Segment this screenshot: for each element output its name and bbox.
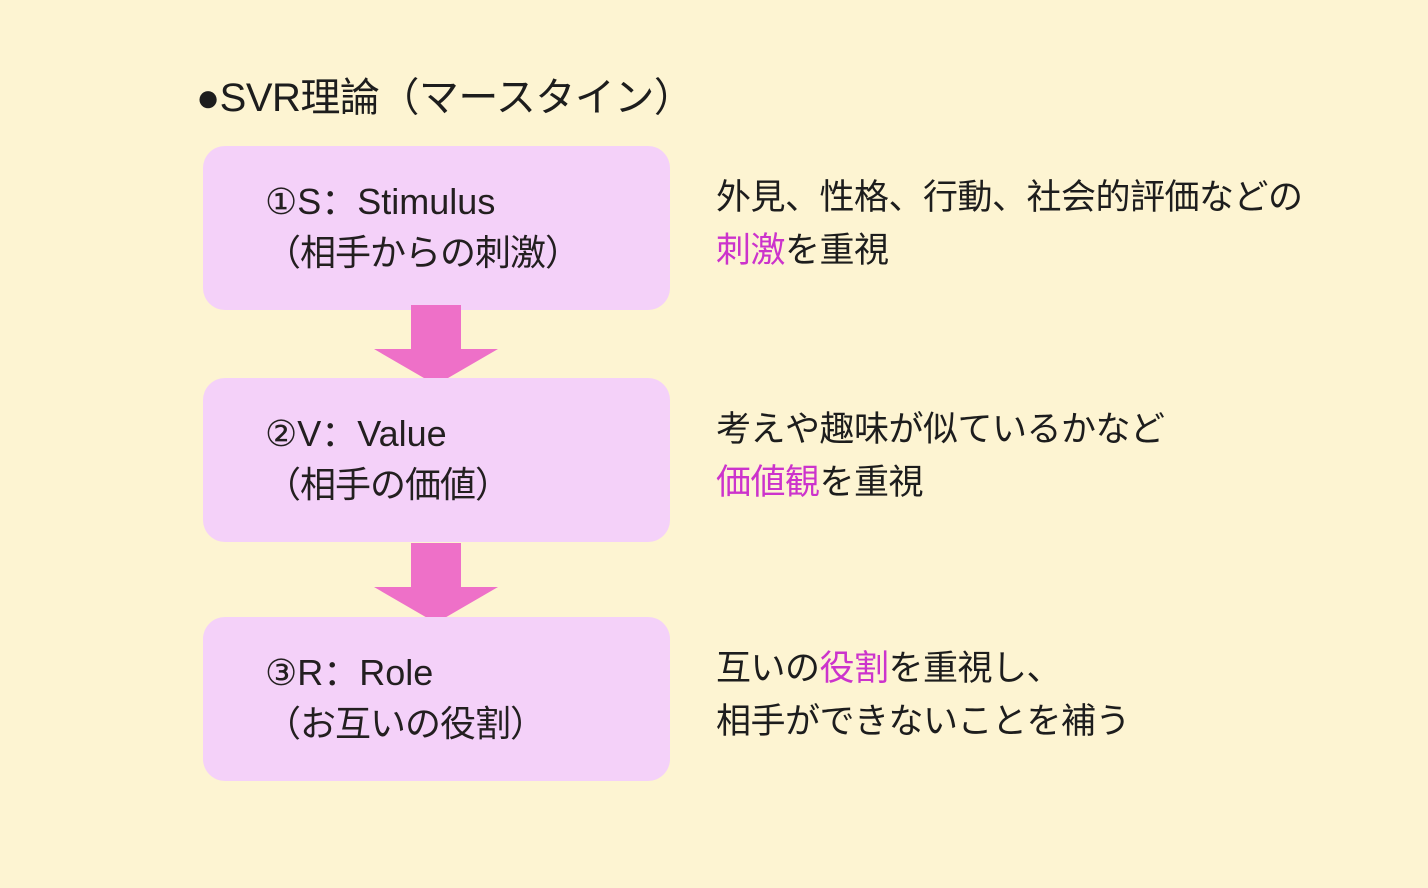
description-line-2: 刺激を重視: [716, 225, 1303, 278]
description-line-1: 互いの役割を重視し、: [716, 643, 1130, 696]
highlight-term: 価値観: [716, 463, 820, 502]
stage-description-value: 考えや趣味が似ているかなど 価値観を重視: [716, 404, 1165, 509]
stage-box-line1: ②V：Value: [265, 413, 447, 454]
arrow-down-icon: [374, 305, 498, 385]
page-title: ●SVR理論（マースタイン）: [196, 78, 693, 118]
description-line-1-pre: 互いの: [716, 649, 820, 688]
stage-box-label: ②V：Value （相手の価値）: [265, 408, 510, 510]
slide-canvas: ●SVR理論（マースタイン） ①S：Stimulus （相手からの刺激） 外見、…: [0, 0, 1428, 888]
stage-description-stimulus: 外見、性格、行動、社会的評価などの 刺激を重視: [716, 172, 1303, 277]
stage-box-line2: （相手からの刺激）: [265, 227, 580, 278]
stage-box-line2: （お互いの役割）: [265, 698, 545, 749]
description-line-2: 価値観を重視: [716, 457, 1165, 510]
stage-box-line1: ①S：Stimulus: [265, 181, 495, 222]
stage-box-label: ③R：Role （お互いの役割）: [265, 647, 545, 749]
stage-box-line2: （相手の価値）: [265, 459, 510, 510]
description-line-1-post: を重視し、: [889, 649, 1062, 688]
description-line-1: 外見、性格、行動、社会的評価などの: [716, 172, 1303, 225]
stage-box-role[interactable]: ③R：Role （お互いの役割）: [203, 617, 670, 781]
highlight-term: 刺激: [716, 231, 785, 270]
stage-description-role: 互いの役割を重視し、 相手ができないことを補う: [716, 643, 1130, 748]
stage-box-label: ①S：Stimulus （相手からの刺激）: [265, 176, 580, 278]
description-line-2-rest: を重視: [820, 463, 924, 502]
stage-box-value[interactable]: ②V：Value （相手の価値）: [203, 378, 670, 542]
description-line-1: 考えや趣味が似ているかなど: [716, 404, 1165, 457]
arrow-down-icon: [374, 543, 498, 623]
description-line-2-rest: を重視: [785, 231, 889, 270]
stage-box-line1: ③R：Role: [265, 652, 433, 693]
highlight-term: 役割: [820, 649, 889, 688]
stage-box-stimulus[interactable]: ①S：Stimulus （相手からの刺激）: [203, 146, 670, 310]
description-line-2: 相手ができないことを補う: [716, 696, 1130, 749]
